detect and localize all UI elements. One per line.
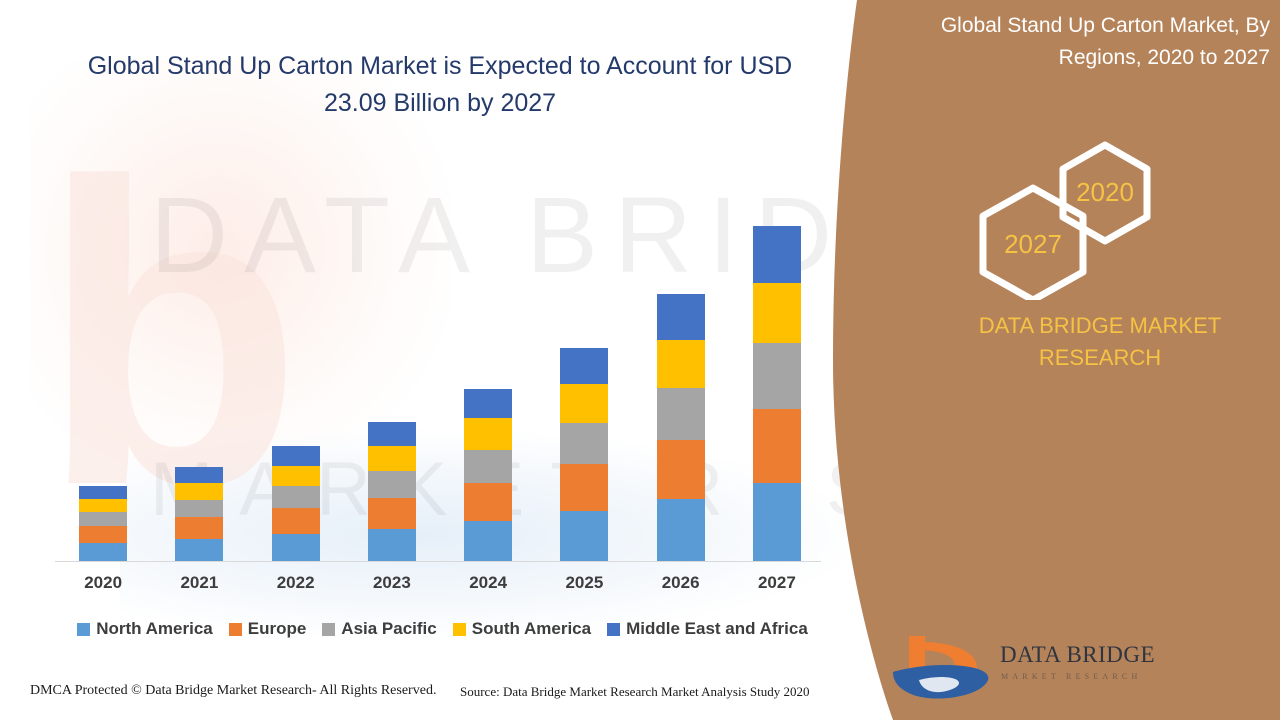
legend-label: Europe xyxy=(248,619,307,639)
chart-plot-area xyxy=(55,150,825,562)
hexagon-2027-label: 2027 xyxy=(1004,229,1062,259)
legend-item[interactable]: Asia Pacific xyxy=(322,619,436,639)
page-title: Global Stand Up Carton Market is Expecte… xyxy=(60,48,820,122)
bar-segment xyxy=(175,539,223,562)
bar-segment xyxy=(657,499,705,562)
logo-subtitle: MARKET RESEARCH xyxy=(1001,672,1131,682)
bar-segment xyxy=(175,467,223,483)
legend-item[interactable]: Europe xyxy=(229,619,307,639)
legend-label: North America xyxy=(96,619,213,639)
bar-segment xyxy=(368,422,416,446)
stacked-bar-2026 xyxy=(657,294,705,562)
legend-swatch-icon xyxy=(322,623,335,636)
bar-segment xyxy=(368,498,416,529)
bar-segment xyxy=(79,512,127,526)
bar-slot xyxy=(440,150,536,562)
bar-segment xyxy=(272,534,320,562)
panel-title: Global Stand Up Carton Market, By Region… xyxy=(880,10,1270,74)
hexagon-2020-label: 2020 xyxy=(1076,177,1134,207)
bar-segment xyxy=(657,388,705,440)
bar-slot xyxy=(633,150,729,562)
bar-segment xyxy=(79,486,127,498)
x-axis-label: 2024 xyxy=(440,573,536,599)
legend-label: Asia Pacific xyxy=(341,619,436,639)
bar-slot xyxy=(55,150,151,562)
bar-segment xyxy=(560,423,608,464)
source-text: Source: Data Bridge Market Research Mark… xyxy=(460,684,809,700)
x-axis-label: 2022 xyxy=(248,573,344,599)
bar-segment xyxy=(657,340,705,388)
bar-slot xyxy=(151,150,247,562)
bar-segment xyxy=(368,471,416,498)
stacked-bar-2027 xyxy=(753,226,801,562)
bar-segment xyxy=(175,483,223,500)
bar-segment xyxy=(657,440,705,499)
x-axis-labels: 20202021202220232024202520262027 xyxy=(55,573,825,599)
bar-segment xyxy=(272,466,320,487)
legend-item[interactable]: Middle East and Africa xyxy=(607,619,808,639)
hexagon-badges: 2020 2027 xyxy=(975,140,1205,300)
bar-slot xyxy=(248,150,344,562)
x-axis-label: 2020 xyxy=(55,573,151,599)
legend-swatch-icon xyxy=(453,623,466,636)
copyright-text: DMCA Protected © Data Bridge Market Rese… xyxy=(30,683,436,699)
bar-segment xyxy=(753,226,801,283)
x-axis-label: 2023 xyxy=(344,573,440,599)
bar-segment xyxy=(79,499,127,512)
bar-segment xyxy=(79,526,127,543)
stacked-bar-2021 xyxy=(175,467,223,562)
bar-segment xyxy=(753,343,801,408)
bar-segment xyxy=(464,521,512,562)
bar-segment xyxy=(175,517,223,538)
bar-segment xyxy=(464,418,512,449)
bar-segment xyxy=(368,529,416,562)
stacked-bar-2020 xyxy=(79,486,127,562)
bar-segment xyxy=(272,446,320,466)
legend-label: South America xyxy=(472,619,591,639)
legend-swatch-icon xyxy=(229,623,242,636)
bar-segment xyxy=(464,389,512,418)
bar-segment xyxy=(560,511,608,562)
x-axis-label: 2021 xyxy=(151,573,247,599)
bar-slot xyxy=(344,150,440,562)
bar-segment xyxy=(464,450,512,483)
bar-segment xyxy=(175,500,223,518)
legend-item[interactable]: South America xyxy=(453,619,591,639)
brand-name: DATA BRIDGE MARKET RESEARCH xyxy=(940,310,1260,374)
bar-slot xyxy=(536,150,632,562)
bar-slot xyxy=(729,150,825,562)
bar-segment xyxy=(272,508,320,534)
bar-segment xyxy=(753,483,801,562)
bar-segment xyxy=(560,348,608,385)
bar-segment xyxy=(753,283,801,344)
chart-legend: North AmericaEuropeAsia PacificSouth Ame… xyxy=(55,615,830,643)
legend-swatch-icon xyxy=(77,623,90,636)
bar-segment xyxy=(272,486,320,508)
stacked-bar-2024 xyxy=(464,389,512,562)
stacked-bar-2025 xyxy=(560,348,608,562)
bar-segment xyxy=(657,294,705,340)
logo-wordmark: DATA BRIDGE xyxy=(1000,642,1120,668)
x-axis-label: 2026 xyxy=(633,573,729,599)
bar-group xyxy=(55,150,825,562)
x-axis-label: 2027 xyxy=(729,573,825,599)
bar-segment xyxy=(368,446,416,471)
stacked-bar-2022 xyxy=(272,446,320,562)
bar-segment xyxy=(560,384,608,422)
bar-segment xyxy=(560,464,608,511)
bar-segment xyxy=(464,483,512,521)
legend-item[interactable]: North America xyxy=(77,619,213,639)
infographic-canvas: b DATA BRIDGE MARKET RESEARCH Global Sta… xyxy=(0,0,1280,720)
legend-label: Middle East and Africa xyxy=(626,619,808,639)
legend-swatch-icon xyxy=(607,623,620,636)
x-axis-label: 2025 xyxy=(536,573,632,599)
bar-segment xyxy=(79,543,127,562)
stacked-bar-2023 xyxy=(368,422,416,562)
x-axis-line xyxy=(55,561,821,562)
bar-segment xyxy=(753,409,801,483)
